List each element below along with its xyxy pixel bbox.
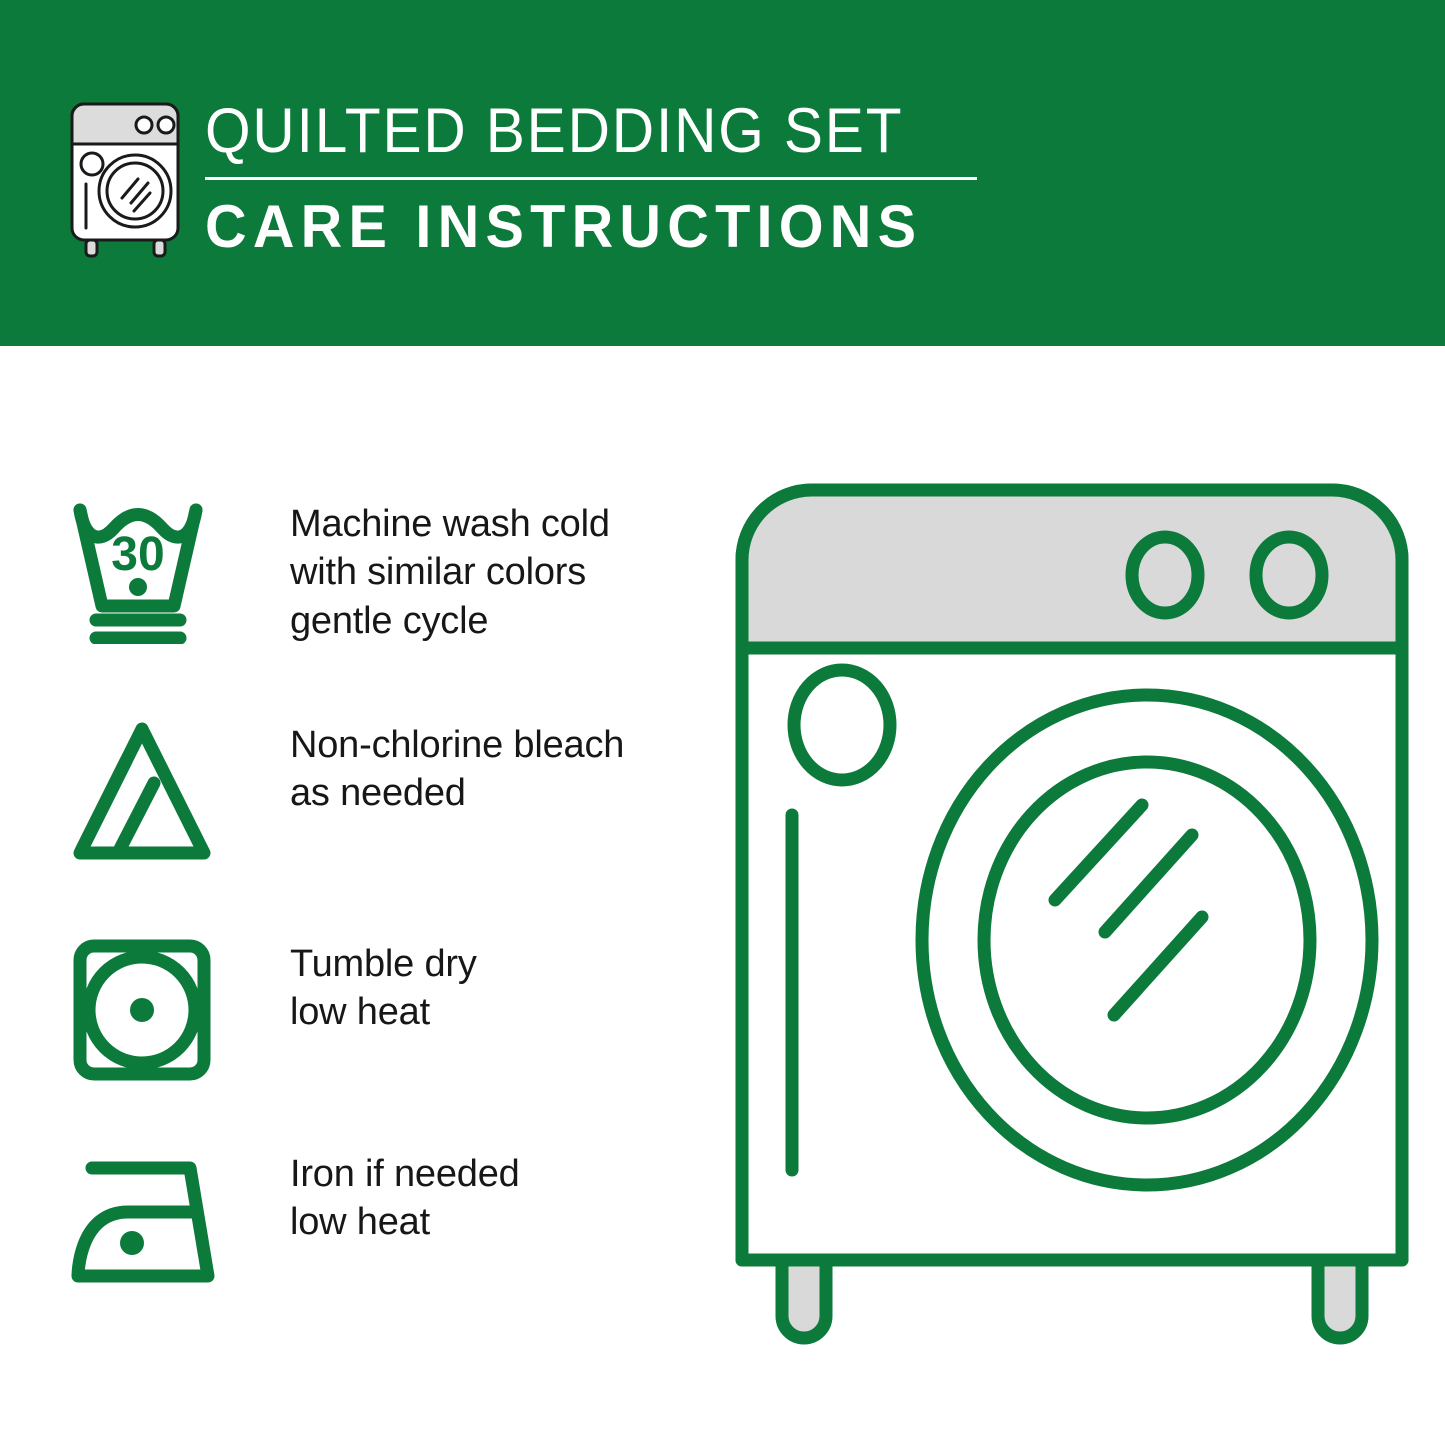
washing-machine-logo-icon (62, 98, 188, 258)
care-row-wash: 30 Machine wash cold with similar colors… (68, 496, 610, 645)
title-divider (205, 177, 977, 180)
washing-machine-illustration (722, 470, 1422, 1370)
care-row-tumble-dry: Tumble dry low heat (68, 936, 477, 1084)
wash-tub-icon: 30 (68, 496, 228, 644)
iron-icon (68, 1146, 228, 1294)
page-subtitle: CARE INSTRUCTIONS (205, 197, 963, 257)
wash-temperature-label: 30 (111, 528, 164, 581)
care-label-bleach: Non-chlorine bleach as needed (290, 717, 624, 818)
bleach-triangle-icon (68, 717, 228, 865)
care-label-tumble-dry: Tumble dry low heat (290, 936, 477, 1037)
care-label-iron: Iron if needed low heat (290, 1146, 520, 1247)
page-title: QUILTED BEDDING SET (205, 100, 940, 163)
care-instructions-page: QUILTED BEDDING SET CARE INSTRUCTIONS 30 (0, 0, 1445, 1445)
care-row-bleach: Non-chlorine bleach as needed (68, 717, 624, 865)
care-label-wash: Machine wash cold with similar colors ge… (290, 496, 610, 645)
header-text-block: QUILTED BEDDING SET CARE INSTRUCTIONS (205, 100, 995, 257)
care-row-iron: Iron if needed low heat (68, 1146, 520, 1294)
header-banner: QUILTED BEDDING SET CARE INSTRUCTIONS (0, 0, 1445, 346)
tumble-dry-icon (68, 936, 228, 1084)
care-instructions-list: 30 Machine wash cold with similar colors… (0, 346, 700, 1445)
